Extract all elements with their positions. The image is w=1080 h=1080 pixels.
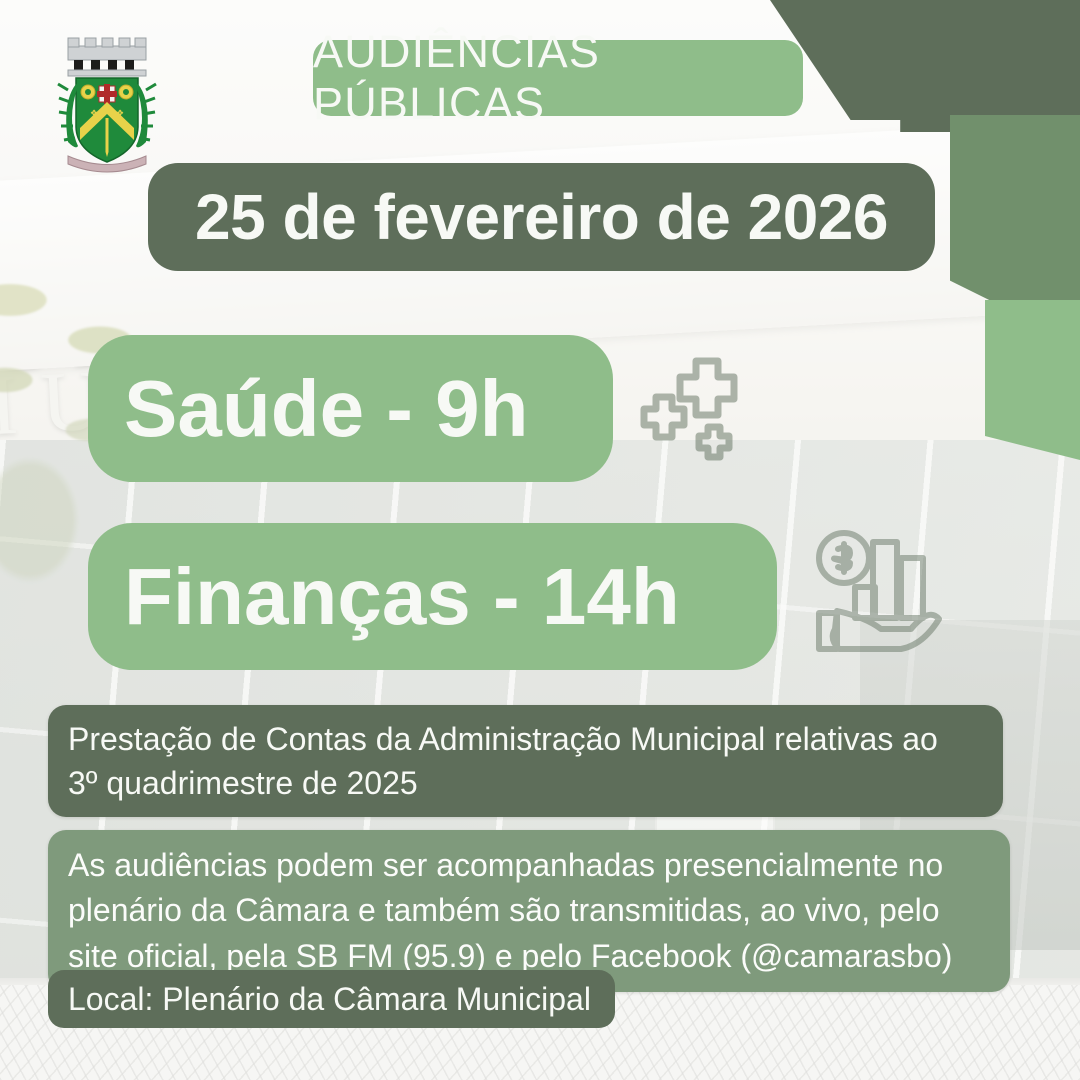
- session-pill-saude: Saúde - 9h: [88, 335, 613, 482]
- broadcast-line-2: plenário da Câmara e também são transmit…: [68, 892, 940, 928]
- decor-parallelogram-light: [985, 300, 1080, 460]
- broadcast-text-block: As audiências podem ser acompanhadas pre…: [48, 830, 1010, 992]
- medical-cross-icon: [630, 335, 780, 465]
- poster-canvas: CÂMARA MUNICIPAL: [0, 0, 1080, 1080]
- coat-of-arms-icon: ❖ ❖: [46, 28, 168, 176]
- broadcast-line-1: As audiências podem ser acompanhadas pre…: [68, 847, 943, 883]
- subject-line-2: 3º quadrimestre de 2025: [68, 765, 418, 801]
- session-pill-financas: Finanças - 14h: [88, 523, 777, 670]
- title-banner: AUDIÊNCIAS PÚBLICAS: [313, 40, 803, 116]
- location-text-block: Local: Plenário da Câmara Municipal: [48, 970, 615, 1028]
- money-hand-chart-icon: [805, 525, 975, 655]
- subject-line-1: Prestação de Contas da Administração Mun…: [68, 721, 938, 757]
- broadcast-line-3: site oficial, pela SB FM (95.9) e pelo F…: [68, 938, 952, 974]
- date-banner: 25 de fevereiro de 2026: [148, 163, 935, 271]
- subject-text-block: Prestação de Contas da Administração Mun…: [48, 705, 1003, 817]
